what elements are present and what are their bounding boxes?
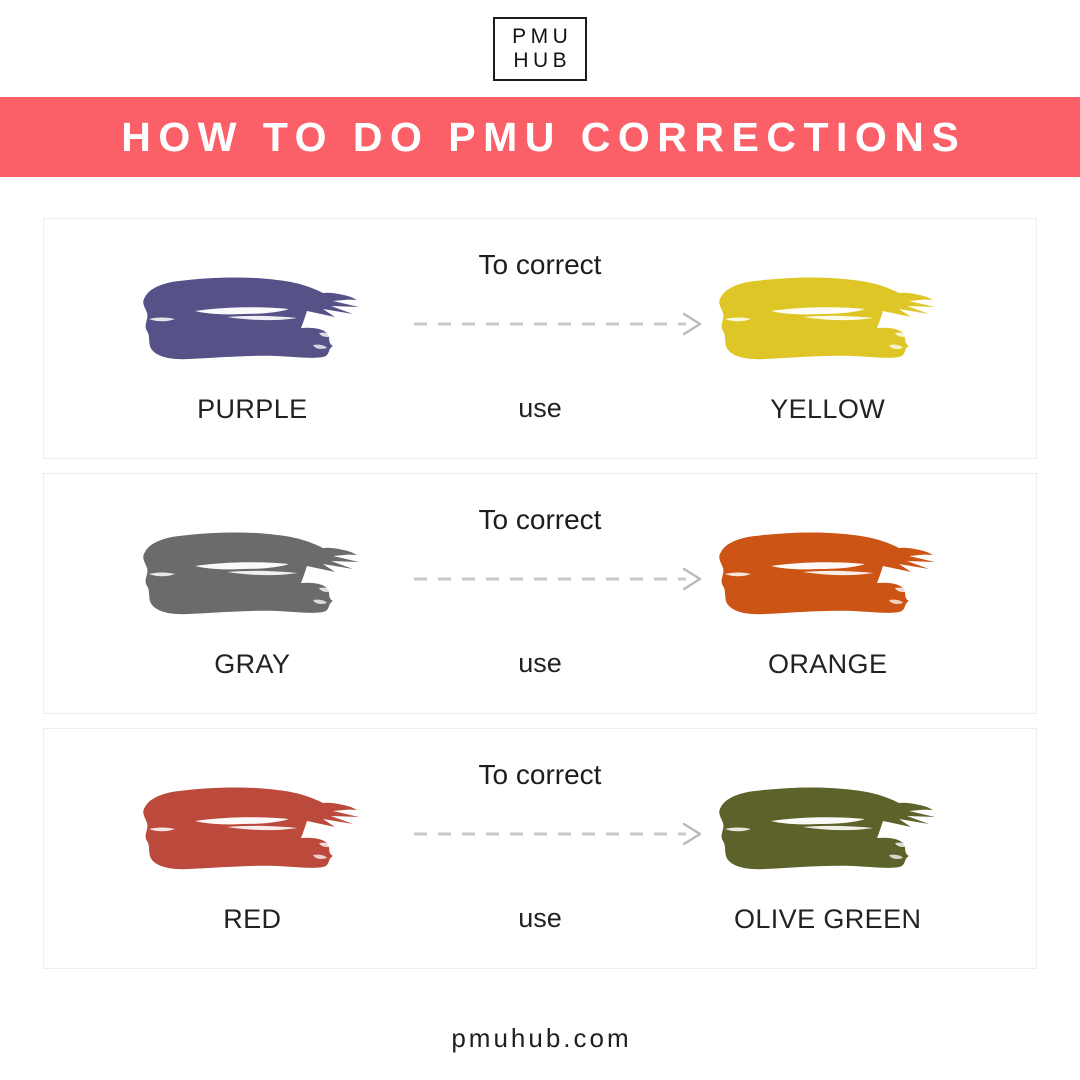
logo-header: PMU HUB xyxy=(0,0,1080,97)
brush-stroke-shape xyxy=(144,277,360,359)
brush-stroke-shape xyxy=(144,532,360,614)
infographic-page: PMU HUB HOW TO DO PMU CORRECTIONS xyxy=(0,0,1080,1080)
instruction-cell: To correct use xyxy=(461,729,620,968)
use-label: use xyxy=(461,648,620,679)
problem-color-label: GRAY xyxy=(44,649,461,680)
correction-row: GRAY To correct use xyxy=(43,473,1037,714)
corrector-color-cell: OLIVE GREEN xyxy=(619,729,1036,968)
footer: pmuhub.com xyxy=(0,997,1080,1080)
brush-stroke-shape xyxy=(144,787,360,869)
brush-stroke-shape xyxy=(719,277,935,359)
instruction-cell: To correct use xyxy=(461,219,620,458)
instruction-cell: To correct use xyxy=(461,474,620,713)
use-label: use xyxy=(461,903,620,934)
correction-row: RED To correct use xyxy=(43,728,1037,969)
corrector-color-label: OLIVE GREEN xyxy=(619,904,1036,935)
pmuhub-logo: PMU HUB xyxy=(493,17,588,81)
brush-swatch-problem xyxy=(127,781,377,879)
problem-color-label: RED xyxy=(44,904,461,935)
corrector-color-cell: ORANGE xyxy=(619,474,1036,713)
corrector-color-label: ORANGE xyxy=(619,649,1036,680)
logo-line-hub: HUB xyxy=(508,50,573,71)
correction-row: PURPLE To correct use xyxy=(43,218,1037,459)
corrector-color-label: YELLOW xyxy=(619,394,1036,425)
correction-rows: PURPLE To correct use xyxy=(0,177,1080,997)
brush-swatch-problem xyxy=(127,271,377,369)
title-banner: HOW TO DO PMU CORRECTIONS xyxy=(0,97,1080,177)
brush-swatch-corrector xyxy=(703,781,953,879)
logo-line-pmu: PMU xyxy=(508,26,573,47)
website-url: pmuhub.com xyxy=(448,1023,631,1054)
problem-color-label: PURPLE xyxy=(44,394,461,425)
page-title: HOW TO DO PMU CORRECTIONS xyxy=(114,114,967,161)
brush-stroke-shape xyxy=(719,787,935,869)
brush-swatch-problem xyxy=(127,526,377,624)
brush-stroke-shape xyxy=(719,532,935,614)
use-label: use xyxy=(461,393,620,424)
brush-swatch-corrector xyxy=(703,526,953,624)
corrector-color-cell: YELLOW xyxy=(619,219,1036,458)
brush-swatch-corrector xyxy=(703,271,953,369)
